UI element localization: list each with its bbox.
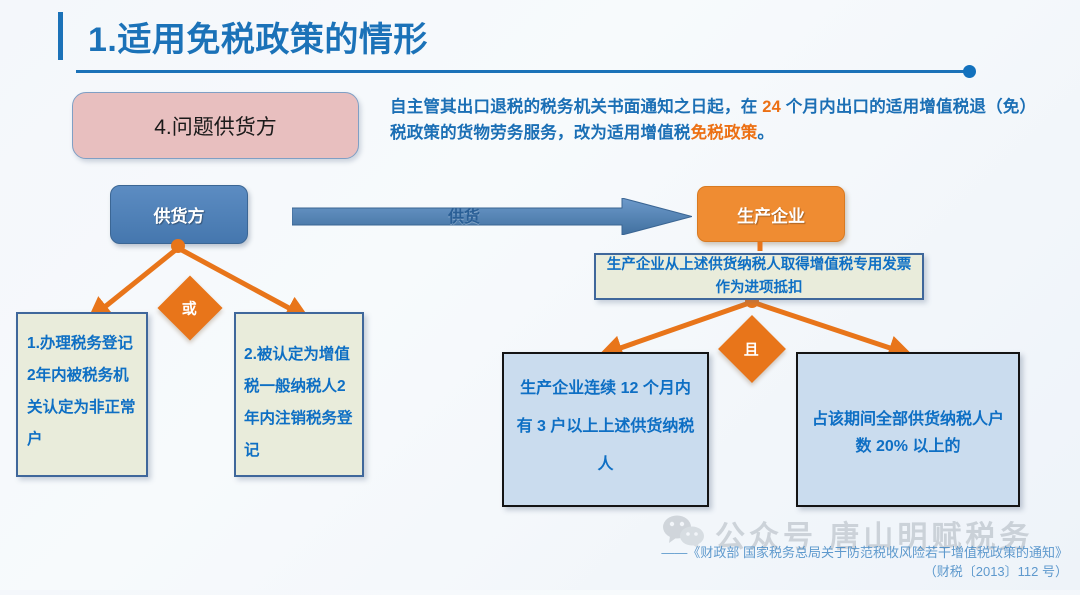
supply-flow-arrow-label: 供货 xyxy=(448,203,480,227)
condition-box-1: 1.办理税务登记2年内被税务机关认定为非正常户 xyxy=(16,312,148,477)
paragraph-highlight-24: 24 xyxy=(762,98,781,116)
logic-diamond-and: 且 xyxy=(718,315,786,383)
node-supplier-label: 供货方 xyxy=(154,202,205,227)
logic-diamond-or: 或 xyxy=(157,275,222,340)
criteria-box-1-label: 生产企业连续 12 个月内有 3 户以上上述供货纳税人 xyxy=(517,380,695,473)
supply-flow-arrow-icon xyxy=(292,198,692,235)
slide-root: 1.适用免税政策的情形 自主管其出口退税的税务机关书面通知之日起，在 24 个月… xyxy=(0,0,1080,590)
node-producer: 生产企业 xyxy=(697,186,845,242)
source-citation: ——《财政部 国家税务总局关于防范税收风险若干增值税政策的通知》 （财税〔201… xyxy=(661,543,1068,581)
source-citation-line-1: ——《财政部 国家税务总局关于防范税收风险若干增值税政策的通知》 xyxy=(661,543,1068,562)
logic-diamond-or-label: 或 xyxy=(182,297,197,318)
section-heading-label: 4.问题供货方 xyxy=(154,111,277,141)
criteria-box-1: 生产企业连续 12 个月内有 3 户以上上述供货纳税人 xyxy=(502,352,709,507)
condition-box-2-label: 2.被认定为增值税一般纳税人2年内注销税务登记 xyxy=(244,346,353,459)
page-title: 1.适用免税政策的情形 xyxy=(88,12,428,61)
paragraph-highlight-exempt: 免税政策 xyxy=(691,124,758,142)
logic-diamond-and-label: 且 xyxy=(744,338,759,359)
node-producer-label: 生产企业 xyxy=(737,202,805,227)
condition-box-1-label: 1.办理税务登记2年内被税务机关认定为非正常户 xyxy=(27,335,136,448)
section-heading-box: 4.问题供货方 xyxy=(72,92,359,159)
node-supplier: 供货方 xyxy=(110,185,248,244)
criteria-box-2: 占该期间全部供货纳税人户数 20% 以上的 xyxy=(796,352,1020,507)
title-accent-bar xyxy=(58,12,63,60)
paragraph-part-3: 。 xyxy=(757,124,774,142)
title-end-dot-icon xyxy=(963,65,976,78)
source-citation-line-2: （财税〔2013〕112 号） xyxy=(661,562,1068,581)
paragraph-part-1: 自主管其出口退税的税务机关书面通知之日起，在 xyxy=(390,98,762,116)
criteria-box-2-label: 占该期间全部供货纳税人户数 20% 以上的 xyxy=(812,411,1004,455)
title-divider xyxy=(76,70,970,73)
policy-paragraph: 自主管其出口退税的税务机关书面通知之日起，在 24 个月内出口的适用增值税退（免… xyxy=(390,94,1038,146)
note-input-deduction-label: 生产企业从上述供货纳税人取得增值税专用发票作为进项抵扣 xyxy=(602,254,916,300)
note-input-deduction: 生产企业从上述供货纳税人取得增值税专用发票作为进项抵扣 xyxy=(594,253,924,300)
condition-box-2: 2.被认定为增值税一般纳税人2年内注销税务登记 xyxy=(234,312,364,477)
